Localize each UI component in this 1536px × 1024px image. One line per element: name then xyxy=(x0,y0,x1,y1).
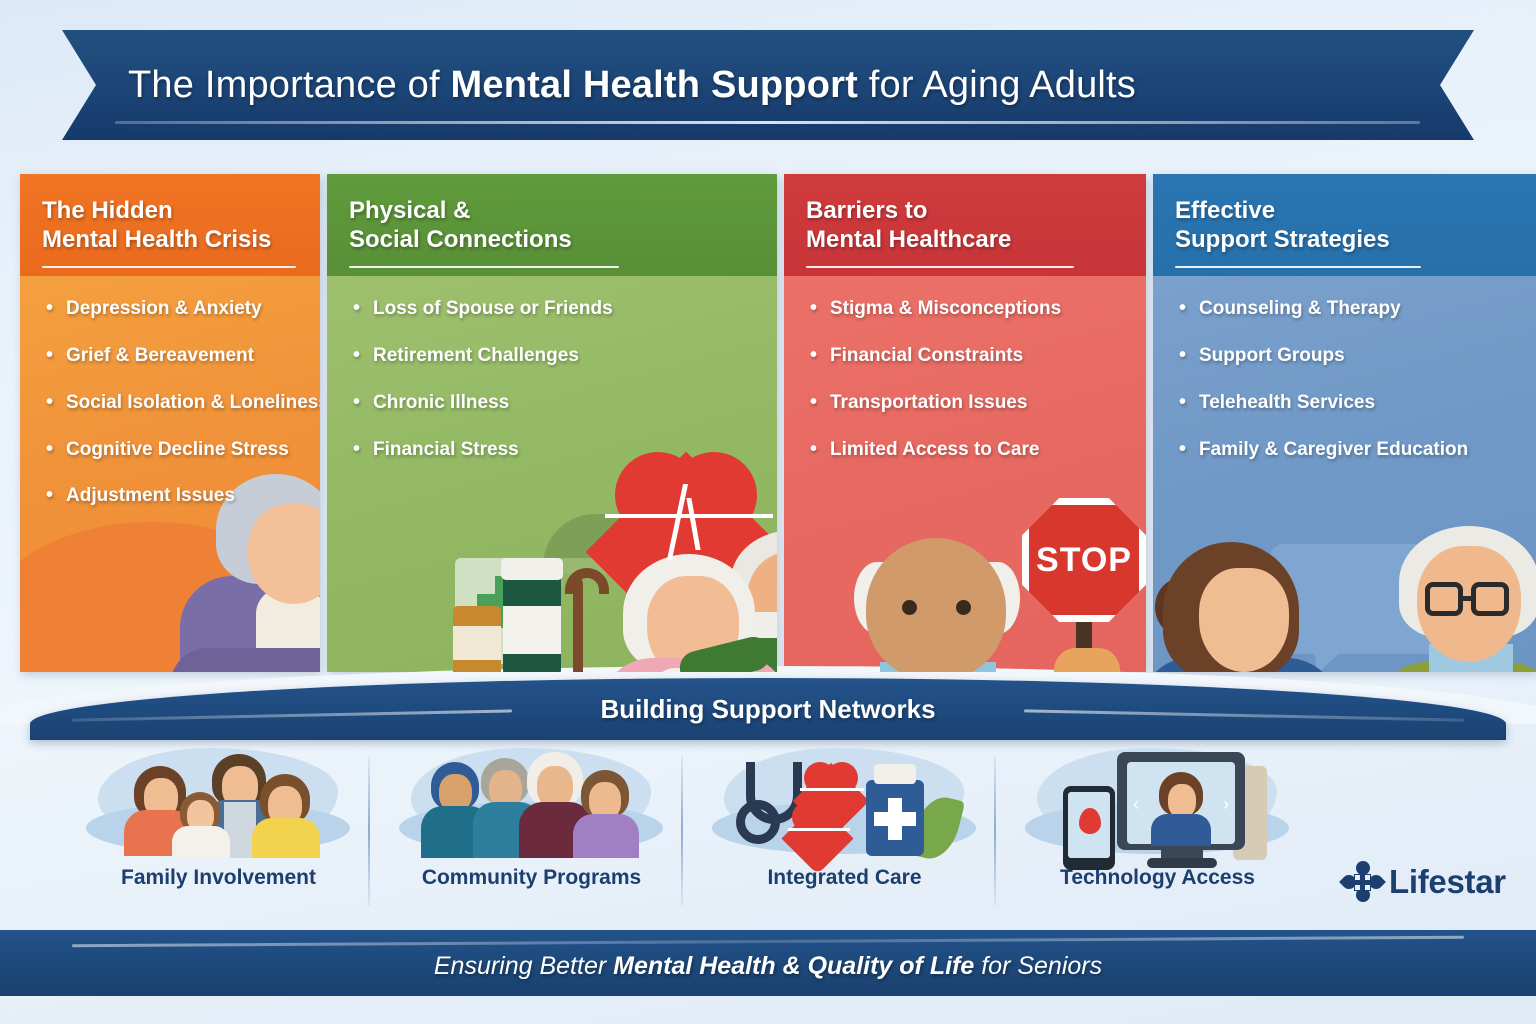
list-item: Retirement Challenges xyxy=(353,345,761,367)
building-support-networks-band: Building Support Networks xyxy=(0,666,1536,744)
card-2-label: Community Programs xyxy=(375,866,688,890)
title-suffix: for Aging Adults xyxy=(858,64,1136,106)
lifestar-flower-icon xyxy=(1342,862,1382,902)
list-item: Adjustment Issues xyxy=(46,485,304,507)
column-1-heading-line1: The Hidden xyxy=(42,197,173,224)
column-2-header-underline xyxy=(349,266,619,268)
card-integrated-care[interactable]: Integrated Care xyxy=(688,744,1001,919)
title-emphasis: Mental Health Support xyxy=(451,64,858,106)
column-1-header: The Hidden Mental Health Crisis xyxy=(20,174,320,276)
prev-arrow-icon: ‹ xyxy=(1133,794,1139,815)
card-3-label: Integrated Care xyxy=(688,866,1001,890)
card-divider xyxy=(994,756,996,906)
list-item: Financial Constraints xyxy=(810,345,1130,367)
column-hidden-mental-health-crisis: The Hidden Mental Health Crisis Depressi… xyxy=(20,174,320,672)
column-physical-social-connections: Physical & Social Connections xyxy=(327,174,777,672)
list-item: Loss of Spouse or Friends xyxy=(353,298,761,320)
list-item: Counseling & Therapy xyxy=(1179,298,1520,320)
footer-emphasis: Mental Health & Quality of Life xyxy=(613,952,974,980)
column-4-body: Counseling & Therapy Support Groups Tele… xyxy=(1153,276,1536,672)
next-arrow-icon: › xyxy=(1223,794,1229,815)
list-item: Financial Stress xyxy=(353,439,761,461)
title-prefix: The Importance of xyxy=(128,64,451,106)
column-3-header: Barriers to Mental Healthcare xyxy=(784,174,1146,276)
column-3-list: Stigma & Misconceptions Financial Constr… xyxy=(810,298,1130,460)
column-2-list: Loss of Spouse or Friends Retirement Cha… xyxy=(353,298,761,460)
column-4-heading-line1: Effective xyxy=(1175,197,1275,224)
topic-columns: The Hidden Mental Health Crisis Depressi… xyxy=(0,174,1536,674)
support-network-cards: Family Involvement Community Programs In… xyxy=(0,744,1536,919)
lifestar-logo[interactable]: Lifestar xyxy=(1342,862,1506,902)
column-4-header: Effective Support Strategies xyxy=(1153,174,1536,276)
column-2-header: Physical & Social Connections xyxy=(327,174,777,276)
list-item: Support Groups xyxy=(1179,345,1520,367)
column-1-body: Depression & Anxiety Grief & Bereavement… xyxy=(20,276,320,672)
list-item: Limited Access to Care xyxy=(810,439,1130,461)
card-divider xyxy=(681,756,683,906)
list-item: Chronic Illness xyxy=(353,392,761,414)
column-1-header-underline xyxy=(42,266,296,268)
list-item: Depression & Anxiety xyxy=(46,298,304,320)
card-family-involvement[interactable]: Family Involvement xyxy=(62,744,375,919)
column-2-heading-line2: Social Connections xyxy=(349,226,572,253)
list-item: Grief & Bereavement xyxy=(46,345,304,367)
list-item: Cognitive Decline Stress xyxy=(46,439,304,461)
column-3-header-underline xyxy=(806,266,1074,268)
column-effective-support-strategies: Effective Support Strategies xyxy=(1153,174,1536,672)
card-1-label: Family Involvement xyxy=(62,866,375,890)
footer-suffix: for Seniors xyxy=(974,952,1102,980)
column-2-heading-line1: Physical & xyxy=(349,197,470,224)
column-2-body: Loss of Spouse or Friends Retirement Cha… xyxy=(327,276,777,672)
list-item: Transportation Issues xyxy=(810,392,1130,414)
footer-tagline: Ensuring Better Mental Health & Quality … xyxy=(0,952,1536,981)
column-barriers-to-mental-healthcare: Barriers to Mental Healthcare STOP xyxy=(784,174,1146,672)
column-1-heading-line2: Mental Health Crisis xyxy=(42,226,271,253)
card-divider xyxy=(368,756,370,906)
column-1-list: Depression & Anxiety Grief & Bereavement… xyxy=(46,298,304,507)
list-item: Stigma & Misconceptions xyxy=(810,298,1130,320)
column-3-heading-line1: Barriers to xyxy=(806,197,927,224)
footer-prefix: Ensuring Better xyxy=(434,952,613,980)
stop-sign-label: STOP xyxy=(1022,498,1146,622)
list-item: Social Isolation & Loneliness xyxy=(46,392,304,414)
list-item: Family & Caregiver Education xyxy=(1179,439,1520,461)
list-item: Telehealth Services xyxy=(1179,392,1520,414)
column-4-header-underline xyxy=(1175,266,1421,268)
card-technology-access[interactable]: ‹ › Technology Access xyxy=(1001,744,1314,919)
card-community-programs[interactable]: Community Programs xyxy=(375,744,688,919)
card-4-label: Technology Access xyxy=(1001,866,1314,890)
title-underline xyxy=(115,121,1420,124)
column-4-list: Counseling & Therapy Support Groups Tele… xyxy=(1179,298,1520,460)
column-3-heading-line2: Mental Healthcare xyxy=(806,226,1011,253)
column-4-heading-line2: Support Strategies xyxy=(1175,226,1390,253)
arc-label: Building Support Networks xyxy=(0,694,1536,725)
column-3-body: STOP Stigma & Misconceptions Financial C… xyxy=(784,276,1146,672)
lifestar-logo-text: Lifestar xyxy=(1389,863,1506,901)
